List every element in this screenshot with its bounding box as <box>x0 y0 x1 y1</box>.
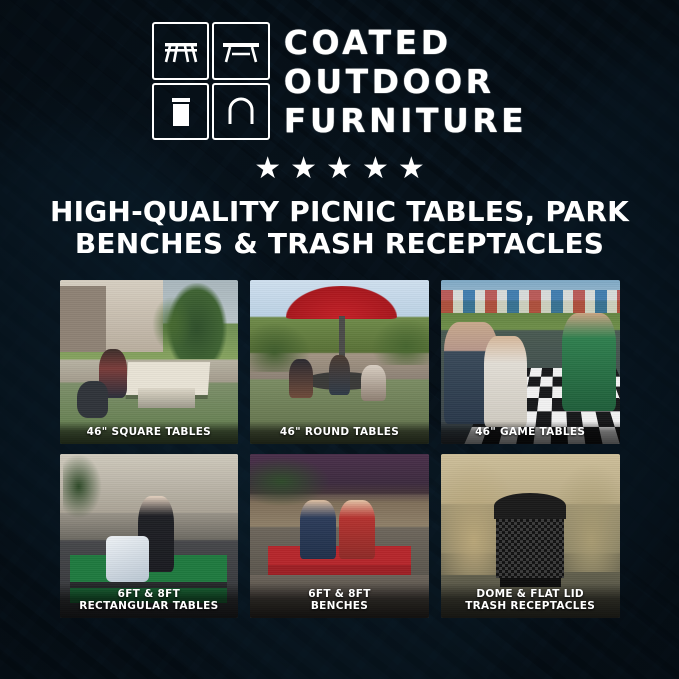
star-rating: ★ ★ ★ ★ ★ <box>254 154 425 184</box>
star-icon: ★ <box>254 154 281 184</box>
photo-square-tables <box>60 280 239 444</box>
star-icon: ★ <box>290 154 317 184</box>
photo-detail-dog <box>77 381 107 417</box>
gallery-tile-square-tables: 46" SQUARE TABLES <box>60 280 239 444</box>
page-title: HIGH-QUALITY PICNIC TABLES, PARK BENCHES… <box>30 196 650 260</box>
tile-caption: 6FT & 8FT BENCHES <box>250 583 429 618</box>
tile-caption: 46" ROUND TABLES <box>250 421 429 444</box>
photo-round-tables <box>250 280 429 444</box>
brand-logo: COATED OUTDOOR FURNITURE <box>152 22 527 140</box>
photo-detail-person <box>562 313 616 411</box>
gallery-tile-benches: 6FT & 8FT BENCHES <box>250 454 429 618</box>
photo-detail-person <box>484 336 527 428</box>
arch-bench-icon <box>212 83 270 141</box>
photo-detail-child <box>339 500 375 559</box>
tile-caption: 46" SQUARE TABLES <box>60 421 239 444</box>
tile-caption-line-2: BENCHES <box>253 600 426 612</box>
photo-detail-tents <box>441 290 620 313</box>
photo-detail-wall <box>60 286 106 352</box>
logo-icon-grid <box>152 22 270 140</box>
picnic-table-icon <box>212 22 270 80</box>
tile-caption: 46" GAME TABLES <box>441 421 620 444</box>
poster-content: COATED OUTDOOR FURNITURE ★ ★ ★ ★ ★ HIGH-… <box>0 0 679 679</box>
photo-detail-child <box>300 500 336 559</box>
wordmark-line-3: FURNITURE <box>284 104 527 137</box>
photo-detail-person <box>289 359 312 398</box>
headline-line-2: BENCHES & TRASH RECEPTACLES <box>30 228 650 260</box>
brand-wordmark: COATED OUTDOOR FURNITURE <box>284 23 527 140</box>
trash-receptacle-icon <box>152 83 210 141</box>
tile-caption-line-1: 46" ROUND TABLES <box>253 426 426 438</box>
product-gallery: 46" SQUARE TABLES 46" ROUND TABLES <box>60 280 620 618</box>
gallery-tile-game-tables: 46" GAME TABLES <box>441 280 620 444</box>
gallery-tile-rectangular-tables: 6FT & 8FT RECTANGULAR TABLES <box>60 454 239 618</box>
photo-detail-umbrella <box>286 286 397 319</box>
tile-caption-line-1: 6FT & 8FT <box>253 588 426 600</box>
star-icon: ★ <box>398 154 425 184</box>
tile-caption: 6FT & 8FT RECTANGULAR TABLES <box>60 583 239 618</box>
gallery-tile-round-tables: 46" ROUND TABLES <box>250 280 429 444</box>
photo-detail-foliage-green <box>250 457 329 506</box>
tile-caption-line-1: DOME & FLAT LID <box>444 588 617 600</box>
photo-detail-red-bench-seat <box>268 565 411 575</box>
star-icon: ★ <box>362 154 389 184</box>
photo-detail-receptacle-body <box>496 516 564 578</box>
tile-caption-line-1: 46" GAME TABLES <box>444 426 617 438</box>
tile-caption: DOME & FLAT LID TRASH RECEPTACLES <box>441 583 620 618</box>
photo-detail-person <box>361 365 386 401</box>
wordmark-line-1: COATED <box>284 26 527 59</box>
bench-icon <box>152 22 210 80</box>
photo-detail-vine <box>63 454 102 520</box>
tile-caption-line-2: TRASH RECEPTACLES <box>444 600 617 612</box>
poster-canvas: COATED OUTDOOR FURNITURE ★ ★ ★ ★ ★ HIGH-… <box>0 0 679 679</box>
tile-caption-line-2: RECTANGULAR TABLES <box>63 600 236 612</box>
photo-detail-person <box>329 355 350 394</box>
wordmark-line-2: OUTDOOR <box>284 65 527 98</box>
photo-game-tables <box>441 280 620 444</box>
star-icon: ★ <box>326 154 353 184</box>
gallery-tile-trash-receptacles: DOME & FLAT LID TRASH RECEPTACLES <box>441 454 620 618</box>
tile-caption-line-1: 46" SQUARE TABLES <box>63 426 236 438</box>
photo-detail-bush-right <box>372 319 429 365</box>
photo-detail-table-leg <box>138 388 195 408</box>
photo-detail-bag <box>106 536 149 582</box>
photo-detail-shrub <box>152 296 191 352</box>
photo-detail-dome-lid <box>494 493 565 519</box>
headline-line-1: HIGH-QUALITY PICNIC TABLES, PARK <box>30 196 650 228</box>
tile-caption-line-1: 6FT & 8FT <box>63 588 236 600</box>
